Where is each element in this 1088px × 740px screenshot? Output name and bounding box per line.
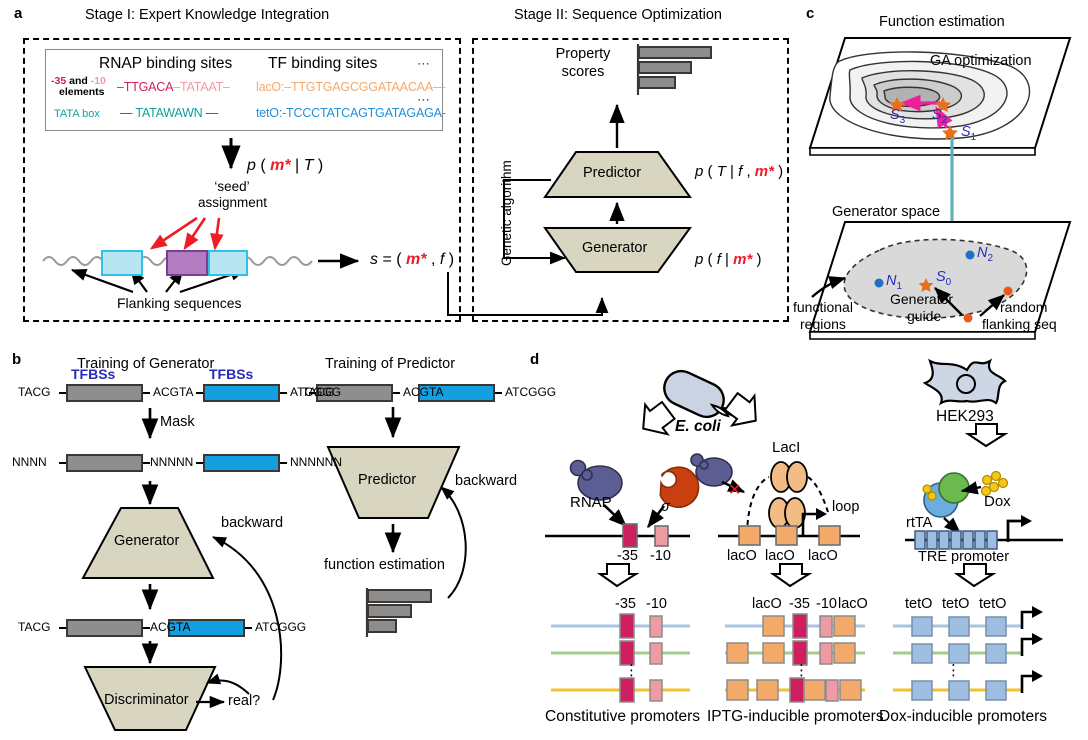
lib1-caption: Constitutive promoters — [545, 708, 700, 725]
tf-binding-sites-header: TF binding sites — [268, 55, 377, 72]
flanking-sequences-label: Flanking sequences — [117, 296, 242, 311]
lib3-dots-icon: ⋮ — [946, 663, 962, 680]
seq-gen-p2: ACGTA — [150, 621, 190, 634]
pred-seq-p2: ACGTA — [403, 386, 443, 399]
rnap-label: RNAP — [570, 495, 612, 512]
predictor-backward-label: backward — [455, 474, 517, 490]
gen-formula-open: ( — [708, 251, 713, 268]
generator-label: Generator — [582, 241, 647, 257]
rnap-seq-m10: TATAAT — [180, 80, 223, 94]
figure-root: a Stage I: Expert Knowledge Integration … — [0, 0, 1088, 740]
rtta-protein-icon — [923, 473, 969, 517]
training-predictor-title: Training of Predictor — [325, 357, 455, 373]
tata-seq-pre: — — [120, 106, 135, 120]
stage1-title: Stage I: Expert Knowledge Integration — [85, 8, 329, 24]
seed-box-2 — [166, 250, 208, 276]
pred-formula-bar: | — [730, 163, 734, 180]
lib2-caption: IPTG-inducible promoters — [707, 708, 884, 725]
panel-c-letter: c — [806, 6, 814, 23]
real-question-label: real? — [228, 694, 260, 710]
hollow-arrow-lib2 — [773, 564, 809, 586]
hollow-arrow-left — [632, 396, 679, 444]
laco-site-3: lacO — [808, 549, 838, 565]
teto-name: tetO: — [256, 106, 282, 120]
panel-b-predictor-label: Predictor — [358, 473, 416, 489]
point-s3-sub: 3 — [900, 115, 906, 126]
generator-backward-curve — [207, 537, 281, 700]
lib3-head-1: tetO — [905, 597, 932, 613]
seq-masked-p2: NNNNN — [150, 456, 193, 469]
dox-molecules-icon — [982, 472, 1008, 496]
dox-label: Dox — [984, 494, 1011, 511]
function-estimation-title: Function estimation — [879, 15, 1005, 31]
pred-formula-close: ) — [778, 163, 783, 180]
pred-formula-t: T — [717, 163, 726, 180]
library-background-panel — [538, 598, 1058, 710]
random-flanking-label-1: random — [1000, 300, 1047, 315]
seq-gen-p1: TACG — [18, 621, 50, 634]
loop-label: loop — [832, 500, 859, 516]
lib1-head-right: -10 — [646, 597, 667, 613]
pred-formula-m: m* — [755, 163, 774, 180]
star-s1-icon — [942, 125, 958, 140]
seq-masked-p3: NNNNNN — [290, 456, 342, 469]
dox-arrow — [962, 487, 981, 491]
hollow-arrow-hek — [968, 424, 1005, 446]
gen-formula-close: ) — [756, 251, 761, 268]
mask-label: Mask — [160, 415, 195, 431]
functional-regions-arrow — [812, 278, 845, 297]
property-scores-label-2: scores — [538, 65, 628, 81]
property-scores-label-1: Property — [538, 47, 628, 63]
generator-space-title: Generator space — [832, 205, 940, 221]
seq-input-p2: ACGTA — [153, 386, 193, 399]
lib1-dots-icon: ⋮ — [624, 663, 640, 680]
library-constitutive-rows — [551, 614, 690, 702]
pred-seq-p1: TACG — [302, 386, 334, 399]
teto-seq: -TCCCTATCAGTGATAGAGA- — [282, 106, 446, 120]
s-comma: , — [431, 251, 440, 268]
point-n2-name: N — [977, 245, 987, 261]
ellipsis-top-icon: ⋯ — [417, 57, 430, 71]
pred-formula-open: ( — [708, 163, 713, 180]
formula-bar: | — [295, 157, 299, 174]
function-estimation-label: function estimation — [324, 558, 445, 574]
generator-backward-label: backward — [221, 516, 283, 532]
rnap-seq-m35: TTGACA — [124, 80, 174, 94]
panel-b-letter: b — [12, 352, 21, 369]
laco-site-1: lacO — [727, 549, 757, 565]
point-s2-name: S — [932, 107, 942, 123]
point-n2-sub: 2 — [987, 253, 993, 264]
ga-optimization-label: GA optimization — [930, 54, 1032, 70]
laco-name: lacO: — [256, 80, 284, 94]
formula-open: ( — [260, 157, 265, 174]
seq-masked-p1: NNNN — [12, 456, 47, 469]
loop-dashed-arc — [747, 477, 828, 534]
laco-site-2: lacO — [765, 549, 795, 565]
rnap-binding-sites-header: RNAP binding sites — [99, 55, 232, 72]
elements-label: elements — [59, 87, 105, 99]
s-close: ) — [449, 251, 454, 268]
gen-formula-m: m* — [733, 251, 752, 268]
pred-formula-p: p — [695, 163, 703, 180]
seed-label-1: ‘seed’ — [198, 180, 266, 195]
lib2-dots-icon: ⋮ — [794, 663, 810, 680]
lib2-head-4: lacO — [838, 597, 868, 613]
seq-gen-p3: ATCGGG — [255, 621, 306, 634]
stage2-title: Stage II: Sequence Optimization — [514, 8, 722, 24]
ecoli-label: E. coli — [675, 418, 721, 435]
pred-seq-p3: ATCGGG — [505, 386, 556, 399]
gen-formula-p: p — [695, 251, 703, 268]
lib3-head-3: tetO — [979, 597, 1006, 613]
library-dox-rows — [893, 606, 1043, 700]
formula-close: ) — [318, 157, 323, 174]
tata-box-label: TATA box — [54, 108, 100, 120]
lib3-head-2: tetO — [942, 597, 969, 613]
point-s0-sub: 0 — [946, 277, 952, 288]
predictor-backward-curve — [441, 487, 466, 598]
point-s3-name: S — [890, 107, 900, 123]
formula-t: T — [304, 157, 314, 174]
rtta-label: rtTA — [906, 516, 932, 532]
mech1-dna-line — [545, 524, 690, 547]
blocked-cross-icon: ✕ — [728, 482, 741, 500]
lib1-head-left: -35 — [615, 597, 636, 613]
library-iptg-rows — [725, 614, 865, 702]
generator-guide-label-2: guide — [907, 309, 941, 324]
rtta-to-tre-arrow — [944, 518, 960, 533]
random-flanking-label-2: flanking seq — [982, 317, 1057, 332]
s-f: f — [440, 251, 444, 268]
lib2-head-2: -35 — [789, 597, 810, 613]
seq-input-p1: TACG — [18, 386, 50, 399]
formula-p: p — [247, 157, 256, 174]
sigma-label: σ — [661, 500, 670, 516]
discriminator-label: Discriminator — [104, 693, 189, 709]
tre-promoter-label: TRE promoter — [918, 550, 1009, 566]
gen-formula-f: f — [717, 251, 721, 268]
generator-guide-label-1: Generator — [890, 292, 953, 307]
panel-b-generator-label: Generator — [114, 534, 179, 550]
gen-formula-bar: | — [725, 251, 729, 268]
point-s1-sub: 1 — [971, 132, 977, 143]
hek293-label: HEK293 — [936, 408, 994, 425]
s-m-star: m* — [406, 251, 426, 268]
seed-label-2: assignment — [190, 196, 275, 211]
panel-a-letter: a — [14, 6, 22, 23]
mech2-rnap-icon — [691, 454, 732, 486]
lib2-head-1: lacO — [752, 597, 782, 613]
genetic-algorithm-label: Genetic algorithm — [499, 160, 514, 266]
hollow-arrow-right — [720, 387, 767, 435]
hollow-arrow-lib1 — [600, 564, 636, 586]
functional-regions-label-2: regions — [800, 317, 846, 332]
hek293-cell-icon — [925, 361, 1005, 403]
panel-d-letter: d — [530, 352, 539, 369]
tata-seq: TATAWAWN — [135, 106, 202, 120]
ecoli-cell-icon — [659, 365, 744, 422]
s-eq: = ( — [382, 251, 401, 268]
rnap-seq-pre: – — [117, 80, 124, 94]
predictor-label: Predictor — [583, 166, 641, 182]
m10-site-label: -10 — [650, 549, 671, 565]
hollow-arrow-lib3 — [957, 564, 993, 586]
laci-label: LacI — [772, 440, 800, 457]
formula-m-star: m* — [270, 157, 290, 174]
lib2-head-3: -10 — [816, 597, 837, 613]
seed-box-3 — [208, 250, 248, 276]
mech-background-panel — [538, 448, 1058, 552]
laco-seq: –TTGTGAGCGGATAACAA— — [284, 80, 445, 94]
point-s0-name: S — [936, 269, 946, 285]
tfbss-label-2: TFBSs — [209, 367, 253, 382]
pred-formula-f: f — [738, 163, 742, 180]
tata-seq-post: — — [203, 106, 219, 120]
pred-formula-comma: , — [746, 163, 754, 180]
tfbss-label-1: TFBSs — [71, 367, 115, 382]
laci-tetramer-top-icon — [771, 462, 807, 492]
sigma-factor-icon — [652, 461, 705, 514]
lib3-caption: Dox-inducible promoters — [879, 708, 1047, 725]
point-s1-name: S — [961, 124, 971, 140]
point-n1-name: N — [886, 273, 896, 289]
s-label: s — [370, 251, 378, 268]
rnap-seq-post: – — [223, 80, 230, 94]
function-estimation-bars — [367, 588, 431, 637]
functional-regions-label-1: functional — [793, 300, 853, 315]
point-s2-sub: 2 — [942, 115, 948, 126]
m35-site-label: -35 — [617, 549, 638, 565]
seed-box-1 — [101, 250, 143, 276]
laci-tetramer-bottom-icon — [769, 498, 805, 528]
